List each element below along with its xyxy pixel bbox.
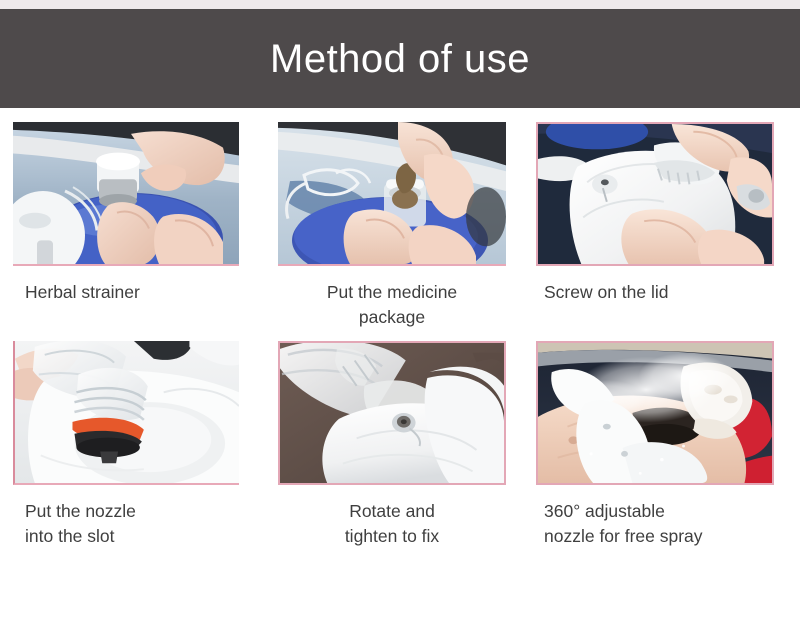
step-caption-6: 360° adjustable nozzle for free spray xyxy=(536,499,782,549)
step-photo-free-spray xyxy=(536,341,774,485)
step-card-3: Screw on the lid xyxy=(536,122,774,330)
step-photo-medicine-package xyxy=(278,122,506,266)
page-title: Method of use xyxy=(270,39,530,79)
step-card-1: Herbal strainer xyxy=(13,122,239,330)
step-photo-nozzle-into-slot xyxy=(13,341,239,485)
step-card-4: Put the nozzle into the slot xyxy=(13,341,239,549)
step-card-5: Rotate and tighten to fix xyxy=(278,341,506,549)
step-caption-4: Put the nozzle into the slot xyxy=(13,499,251,549)
step-card-6: 360° adjustable nozzle for free spray xyxy=(536,341,774,549)
instruction-page: Method of use xyxy=(0,0,800,623)
header-bar: Method of use xyxy=(0,9,800,108)
step-photo-rotate-tighten xyxy=(278,341,506,485)
top-strip xyxy=(0,0,800,9)
step-photo-screw-lid xyxy=(536,122,774,266)
step-caption-2: Put the medicine package xyxy=(278,280,506,330)
step-photo-herbal-strainer xyxy=(13,122,239,266)
step-caption-3: Screw on the lid xyxy=(536,280,782,305)
steps-row-bottom: Put the nozzle into the slot xyxy=(0,341,800,549)
step-caption-1: Herbal strainer xyxy=(13,280,251,305)
steps-row-top: Herbal strainer xyxy=(0,122,800,330)
steps-grid: Herbal strainer xyxy=(0,122,800,548)
step-caption-5: Rotate and tighten to fix xyxy=(278,499,506,549)
step-card-2: Put the medicine package xyxy=(278,122,506,330)
